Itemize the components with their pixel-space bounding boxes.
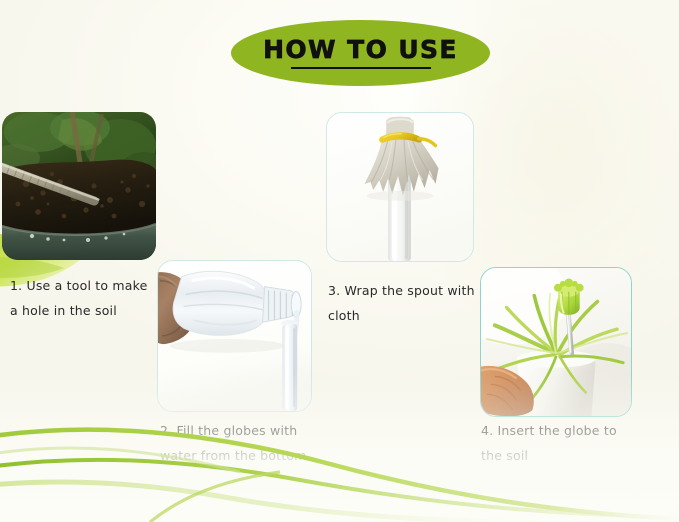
insert-globe-photo bbox=[481, 268, 631, 416]
cloth-wrap-photo bbox=[327, 113, 473, 261]
step-1-photo bbox=[2, 112, 156, 260]
soil-tool-photo bbox=[2, 112, 156, 260]
bottle-pouring-photo bbox=[158, 261, 311, 411]
step-1-caption: 1. Use a tool to make a hole in the soil bbox=[10, 273, 170, 323]
title-text-group: HOW TO USE bbox=[231, 20, 490, 86]
title-label: HOW TO USE bbox=[263, 37, 458, 62]
how-to-use-infographic: HOW TO USE bbox=[0, 0, 679, 522]
title-underline bbox=[291, 67, 431, 69]
step-4-caption: 4. Insert the globe to the soil bbox=[481, 418, 646, 468]
step-3-photo bbox=[326, 112, 474, 262]
step-2-caption: 2. Fill the globes with water from the b… bbox=[160, 418, 340, 468]
step-2-photo bbox=[157, 260, 312, 412]
page-title: HOW TO USE bbox=[231, 20, 490, 86]
step-3-caption: 3. Wrap the spout with cloth bbox=[328, 278, 503, 328]
